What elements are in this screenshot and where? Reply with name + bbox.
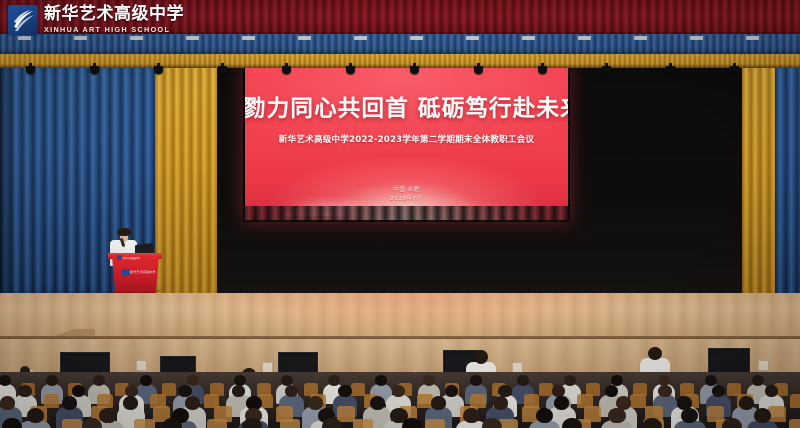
audience-member-head xyxy=(308,396,323,410)
valance-blue xyxy=(0,34,800,56)
front-row-person-head xyxy=(648,347,662,360)
audience-member-head xyxy=(0,375,11,386)
stage-light-icon xyxy=(474,66,483,74)
audience-member-head xyxy=(705,375,717,386)
audience-member-head xyxy=(642,418,661,428)
school-logo-overlay: 新华艺术高级中学 XINHUA ART HIGH SCHOOL ® xyxy=(8,4,184,36)
valance-tab xyxy=(522,36,535,40)
stage-light-icon xyxy=(26,66,35,74)
audience-member-head xyxy=(123,396,138,410)
speaker-hair xyxy=(117,228,131,236)
xinhua-swoosh-icon xyxy=(122,269,129,276)
led-screen-frame xyxy=(243,63,570,222)
curtain-blue-right xyxy=(775,60,800,297)
audience-member-head xyxy=(739,396,754,410)
valance-gold xyxy=(0,54,800,68)
audience-member-head xyxy=(162,418,181,428)
audience-member-head xyxy=(402,418,421,428)
audience-member-head xyxy=(185,396,200,410)
auditorium-seat xyxy=(353,419,373,428)
stage-light-icon xyxy=(602,66,611,74)
stage-light-icon xyxy=(346,66,355,74)
valance-tab xyxy=(298,36,311,40)
audience-member-head xyxy=(18,385,31,397)
stage-light-icon xyxy=(410,66,419,74)
audience-member-head xyxy=(322,418,341,428)
auditorium-seat xyxy=(539,383,553,396)
audience-member-head xyxy=(712,385,725,397)
stage-light-icon xyxy=(666,66,675,74)
valance-tab xyxy=(18,36,31,40)
valance-tab xyxy=(410,36,423,40)
podium-logo-top: 新华艺术高级中学 xyxy=(117,255,137,260)
auditorium-seat xyxy=(425,419,445,428)
audience-member-head xyxy=(722,418,741,428)
curtain-gold-left xyxy=(155,60,217,297)
podium-logo: 新华艺术高级中学 xyxy=(122,269,144,277)
stage-light-icon xyxy=(154,66,163,74)
audience-member-head xyxy=(46,375,58,386)
stage-light-icon xyxy=(282,66,291,74)
audience-member-head xyxy=(338,385,351,397)
audience-member-head xyxy=(187,375,199,386)
valance-tab xyxy=(130,36,143,40)
audience-member-head xyxy=(658,385,671,397)
audience-member-head xyxy=(72,385,85,397)
audience-member-head xyxy=(536,408,553,424)
podium-logo-label: 新华艺术高级中学 xyxy=(130,270,156,274)
wall-speaker-icon xyxy=(708,348,750,373)
audience-member-head xyxy=(470,375,482,386)
auditorium-seat xyxy=(789,419,800,428)
audience-member-head xyxy=(752,375,764,386)
audience-member-head xyxy=(564,375,576,386)
xinhua-swoosh-icon xyxy=(117,255,122,260)
audience-member-head xyxy=(2,418,21,428)
auditorium-seat xyxy=(280,419,300,428)
valance-tab xyxy=(242,36,255,40)
stage-light-icon xyxy=(538,66,547,74)
valance-tab xyxy=(746,36,759,40)
audience-member-head xyxy=(554,396,569,410)
audience-member-head xyxy=(62,396,77,410)
valance-tab xyxy=(578,36,591,40)
audience-member-head xyxy=(392,385,405,397)
audience-member-head xyxy=(431,396,446,410)
school-name-cn: 新华艺术高级中学 xyxy=(44,6,184,23)
audience-member-head xyxy=(93,375,105,386)
valance-tab xyxy=(466,36,479,40)
auditorium-seat xyxy=(630,394,646,409)
wall-outlet-icon xyxy=(136,360,147,371)
audience-member-head xyxy=(608,408,625,424)
stage-light-icon xyxy=(218,66,227,74)
valance-tab xyxy=(186,36,199,40)
registered-mark-icon: ® xyxy=(54,6,58,12)
valance-tab xyxy=(354,36,367,40)
audience-member-head xyxy=(517,375,529,386)
auditorium-seat xyxy=(351,383,365,396)
front-row-person-head xyxy=(474,350,488,364)
audience-member-head xyxy=(493,396,508,410)
auditorium-seat xyxy=(790,394,800,409)
school-name-en: XINHUA ART HIGH SCHOOL xyxy=(44,26,184,33)
audience-member-head xyxy=(423,375,435,386)
audience-member-head xyxy=(482,418,501,428)
audience-member-head xyxy=(82,418,101,428)
auditorium-seat xyxy=(134,419,154,428)
audience-member-head xyxy=(99,408,116,424)
audience-member-head xyxy=(754,408,771,424)
valance-tab xyxy=(74,36,87,40)
valance-tab xyxy=(634,36,647,40)
audience-member-head xyxy=(140,375,152,386)
audience-member-head xyxy=(232,385,245,397)
wall-outlet-icon xyxy=(758,360,769,371)
xinhua-swoosh-icon xyxy=(8,5,38,35)
stage-light-icon xyxy=(730,66,739,74)
stage-truss xyxy=(243,206,570,222)
audience-member-head xyxy=(242,418,261,428)
stage-light-icon xyxy=(90,66,99,74)
audience-member-head xyxy=(370,396,385,410)
auditorium-photo: 勠力同心共回首 砥砺笃行赴未来 新华艺术高级中学2022-2023学年第二学期期… xyxy=(0,0,800,428)
stage-floor xyxy=(0,293,800,339)
podium-logo-label-top: 新华艺术高级中学 xyxy=(123,256,141,260)
auditorium-seat xyxy=(207,419,227,428)
valance-tab xyxy=(690,36,703,40)
audience-member-head xyxy=(0,396,15,410)
auditorium-seat xyxy=(62,419,82,428)
audience-seating xyxy=(0,372,800,428)
audience-member-head xyxy=(562,418,581,428)
audience-member-head xyxy=(27,408,44,424)
